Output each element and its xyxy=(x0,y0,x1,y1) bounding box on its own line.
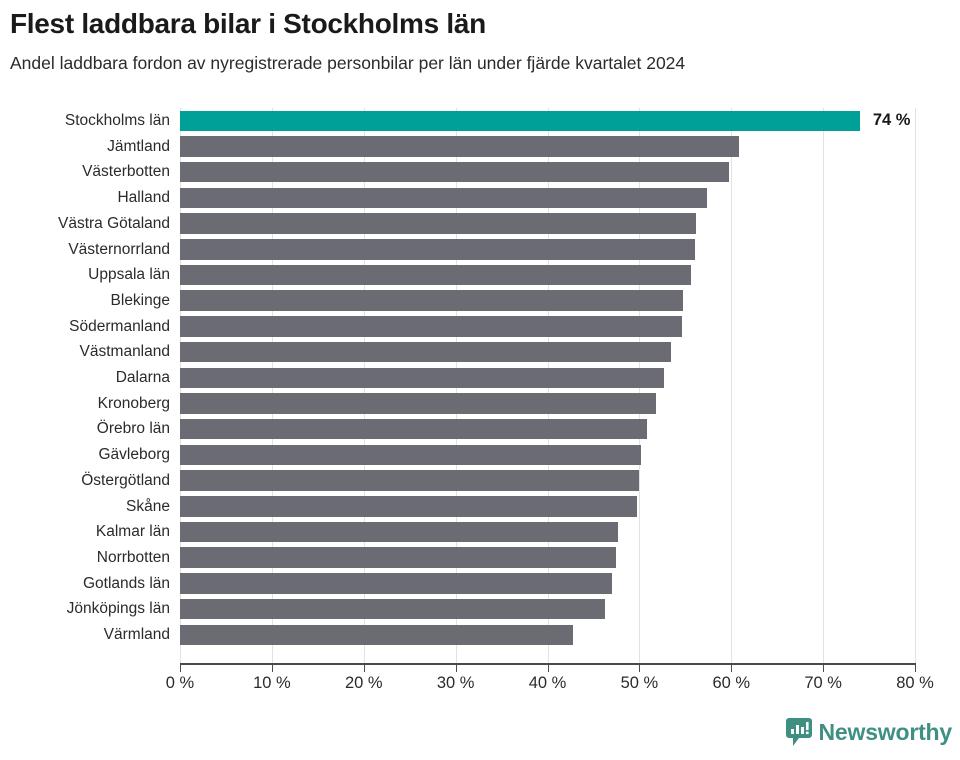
bar-row: Västmanland xyxy=(0,339,960,365)
x-axis-tick xyxy=(272,663,273,672)
category-label: Gotlands län xyxy=(0,571,170,597)
bar-row: Halland xyxy=(0,185,960,211)
category-label: Uppsala län xyxy=(0,262,170,288)
newsworthy-logo[interactable]: Newsworthy xyxy=(786,718,952,747)
category-label: Örebro län xyxy=(0,416,170,442)
bar xyxy=(180,419,647,440)
bar-row: Västerbotten xyxy=(0,159,960,185)
bar-value-label: 74 % xyxy=(873,110,911,131)
bar xyxy=(180,522,618,543)
bar-row: Kalmar län xyxy=(0,519,960,545)
x-axis-tick xyxy=(364,663,365,672)
bar-row: Södermanland xyxy=(0,314,960,340)
bar-row: Skåne xyxy=(0,494,960,520)
bar-row: Östergötland xyxy=(0,468,960,494)
x-axis-tick xyxy=(548,663,549,672)
category-label: Blekinge xyxy=(0,288,170,314)
bar xyxy=(180,316,682,337)
category-label: Norrbotten xyxy=(0,545,170,571)
bar xyxy=(180,265,691,286)
x-axis-tick-label: 50 % xyxy=(621,674,659,693)
chart-footer: Newsworthy xyxy=(0,714,960,760)
x-axis-tick-label: 80 % xyxy=(896,674,934,693)
category-label: Södermanland xyxy=(0,314,170,340)
page-title: Flest laddbara bilar i Stockholms län xyxy=(10,8,950,40)
bar-row: Stockholms län74 % xyxy=(0,108,960,134)
category-label: Kalmar län xyxy=(0,519,170,545)
bar-row: Uppsala län xyxy=(0,262,960,288)
x-axis-tick xyxy=(915,663,916,672)
bar xyxy=(180,188,707,209)
bar-row: Kronoberg xyxy=(0,391,960,417)
bar xyxy=(180,496,637,517)
bar xyxy=(180,573,612,594)
category-label: Jämtland xyxy=(0,134,170,160)
bar xyxy=(180,625,573,646)
bar-row: Örebro län xyxy=(0,416,960,442)
bar xyxy=(180,368,664,389)
bar xyxy=(180,290,683,311)
x-axis-tick-label: 70 % xyxy=(804,674,842,693)
bar xyxy=(180,547,616,568)
bar xyxy=(180,213,696,234)
x-axis-tick-label: 30 % xyxy=(437,674,475,693)
chart-header: Flest laddbara bilar i Stockholms län An… xyxy=(0,0,960,74)
category-label: Västernorrland xyxy=(0,237,170,263)
category-label: Stockholms län xyxy=(0,108,170,134)
x-axis-tick xyxy=(180,663,181,672)
category-label: Västerbotten xyxy=(0,159,170,185)
bar-row: Gävleborg xyxy=(0,442,960,468)
bar-row: Jämtland xyxy=(0,134,960,160)
x-axis-tick-label: 20 % xyxy=(345,674,383,693)
bar-row: Västra Götaland xyxy=(0,211,960,237)
category-label: Skåne xyxy=(0,494,170,520)
logo-wordmark: Newsworthy xyxy=(819,719,952,746)
bar xyxy=(180,162,729,183)
category-label: Gävleborg xyxy=(0,442,170,468)
bar xyxy=(180,393,656,414)
bar xyxy=(180,136,739,157)
bar-row: Dalarna xyxy=(0,365,960,391)
bar-chart-speech-bubble-icon xyxy=(786,718,812,747)
category-label: Jönköpings län xyxy=(0,596,170,622)
category-label: Värmland xyxy=(0,622,170,648)
x-axis-tick-label: 0 % xyxy=(166,674,194,693)
x-axis-tick xyxy=(456,663,457,672)
bar-row: Blekinge xyxy=(0,288,960,314)
bar-row: Jönköpings län xyxy=(0,596,960,622)
bar-row: Norrbotten xyxy=(0,545,960,571)
category-label: Halland xyxy=(0,185,170,211)
bar xyxy=(180,111,860,132)
bar-chart: 0 %10 %20 %30 %40 %50 %60 %70 %80 %Stock… xyxy=(0,108,960,708)
x-axis-tick-label: 40 % xyxy=(529,674,567,693)
category-label: Västra Götaland xyxy=(0,211,170,237)
bar xyxy=(180,470,639,491)
category-label: Västmanland xyxy=(0,339,170,365)
bar xyxy=(180,599,605,620)
category-label: Dalarna xyxy=(0,365,170,391)
bar-row: Värmland xyxy=(0,622,960,648)
category-label: Östergötland xyxy=(0,468,170,494)
x-axis-tick-label: 60 % xyxy=(712,674,750,693)
category-label: Kronoberg xyxy=(0,391,170,417)
x-axis-tick-label: 10 % xyxy=(253,674,291,693)
bar xyxy=(180,342,671,363)
x-axis-tick xyxy=(823,663,824,672)
x-axis-tick xyxy=(731,663,732,672)
bar-row: Västernorrland xyxy=(0,237,960,263)
bar xyxy=(180,239,695,260)
chart-subtitle: Andel laddbara fordon av nyregistrerade … xyxy=(10,53,950,74)
bar-row: Gotlands län xyxy=(0,571,960,597)
x-axis-tick xyxy=(639,663,640,672)
bar xyxy=(180,445,641,466)
